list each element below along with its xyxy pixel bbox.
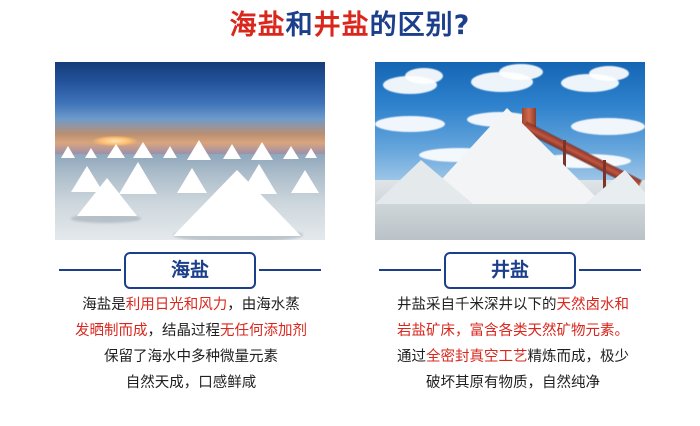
label-rule-left (59, 269, 121, 271)
text-run: 自然天成，口感鲜咸 (126, 375, 257, 391)
text-run-accent: 岩盐矿床，富含各类天然矿物元素。 (397, 323, 629, 339)
text-run: 井盐采自千米深井以下的 (397, 297, 557, 313)
salt-cone (85, 148, 97, 158)
label-rule-right (579, 269, 641, 271)
description-line: 自然天成，口感鲜咸 (30, 370, 352, 396)
description-line: 发晒制而成，结晶过程无任何添加剂 (30, 318, 352, 344)
cloud (589, 66, 629, 81)
text-run-accent: 利用日光和风力 (126, 297, 228, 313)
salt-mound-right (585, 170, 645, 204)
page-title: 海盐和井盐的区别? (0, 8, 700, 44)
text-run: 通过 (397, 349, 426, 365)
well-salt-description: 井盐采自千米深井以下的天然卤水和 岩盐矿床，富含各类天然矿物元素。 通过全密封真… (352, 292, 674, 396)
description-line: 通过全密封真空工艺精炼而成，极少 (352, 344, 674, 370)
sea-salt-description: 海盐是利用日光和风力，由海水蒸 发晒制而成，结晶过程无任何添加剂 保留了海水中多… (30, 292, 352, 396)
column-sea-salt: 海盐 (55, 62, 325, 292)
text-run: 破坏其原有物质，自然纯净 (426, 375, 600, 391)
salt-cone (61, 146, 75, 158)
description-line: 保留了海水中多种微量元素 (30, 344, 352, 370)
well-salt-label: 井盐 (444, 252, 576, 289)
cloud (499, 64, 543, 80)
well-salt-photo (375, 62, 645, 240)
column-well-salt: 井盐 (375, 62, 645, 292)
text-run: 精炼而成，极少 (528, 349, 630, 365)
salt-cone (223, 144, 241, 159)
sea-salt-label-wrap: 海盐 (55, 252, 325, 292)
salt-cone (187, 140, 211, 160)
salt-cone (251, 142, 273, 160)
cloud (405, 68, 443, 84)
description-line: 井盐采自千米深井以下的天然卤水和 (352, 292, 674, 318)
title-part-sea-salt: 海盐 (230, 10, 286, 41)
salt-cone (107, 144, 125, 158)
infographic-page: 海盐和井盐的区别? (0, 0, 700, 426)
text-run: ，由海水蒸 (227, 297, 300, 313)
salt-cone-foreground (173, 170, 301, 236)
sea-salt-label: 海盐 (124, 252, 256, 289)
text-run: 保留了海水中多种微量元素 (104, 349, 278, 365)
description-line: 岩盐矿床，富含各类天然矿物元素。 (352, 318, 674, 344)
title-part-and: 和 (286, 10, 314, 41)
label-rule-right (259, 269, 321, 271)
title-part-well-salt: 井盐 (314, 10, 370, 41)
text-run: 海盐是 (82, 297, 126, 313)
title-part-difference: 的区别? (370, 10, 471, 41)
well-salt-label-wrap: 井盐 (375, 252, 645, 292)
salt-mound-left (375, 160, 473, 204)
salt-cone (163, 146, 177, 158)
text-run-accent: 发晒制而成 (75, 323, 148, 339)
label-rule-left (379, 269, 441, 271)
text-run: ，结晶过程 (148, 323, 221, 339)
text-run-accent: 天然卤水和 (557, 297, 630, 313)
salt-cone (283, 146, 299, 159)
description-line: 破坏其原有物质，自然纯净 (352, 370, 674, 396)
text-run-accent: 全密封真空工艺 (426, 349, 528, 365)
salt-cone-foreground (77, 178, 137, 216)
text-run-accent: 无任何添加剂 (220, 323, 307, 339)
sea-salt-photo (55, 62, 325, 240)
description-line: 海盐是利用日光和风力，由海水蒸 (30, 292, 352, 318)
salt-cone (305, 148, 317, 158)
salt-cone (133, 142, 153, 158)
